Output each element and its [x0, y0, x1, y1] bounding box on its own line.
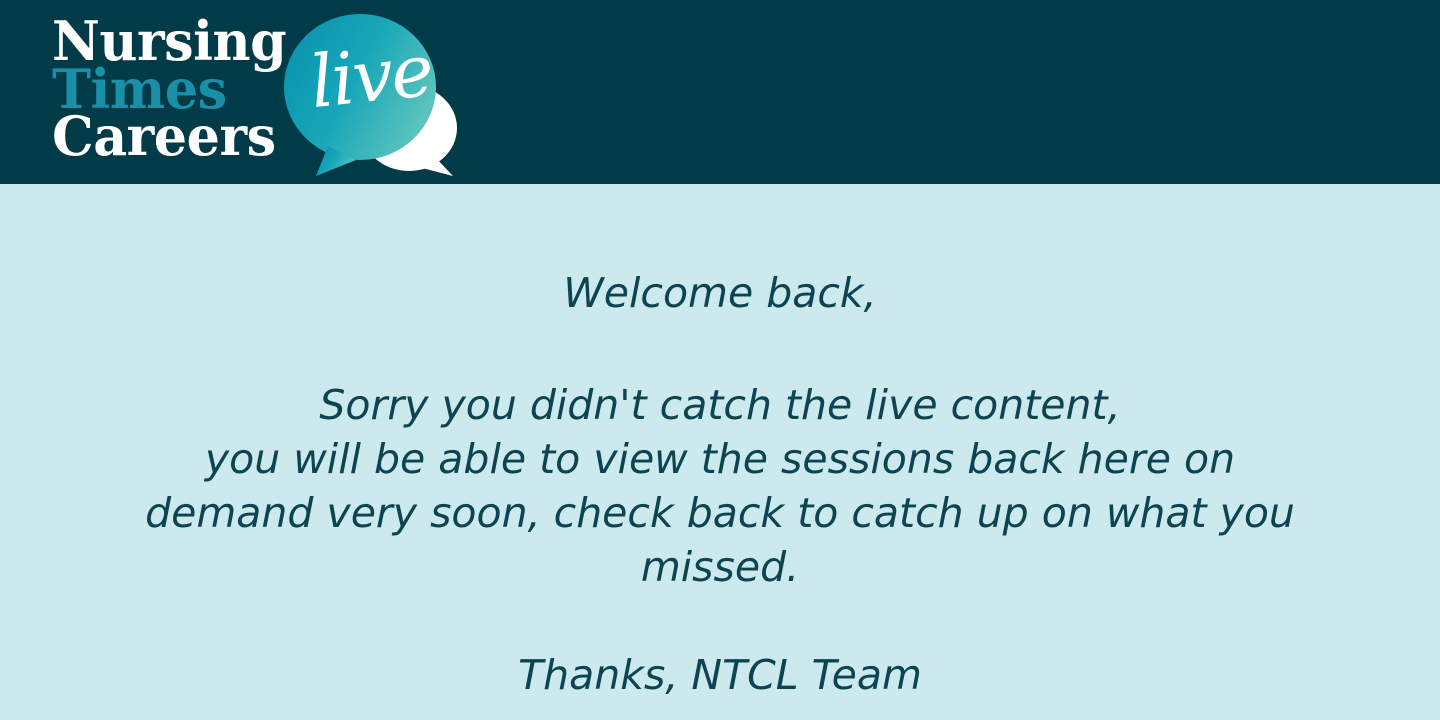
brand-wordmark: Nursing Times Careers [52, 18, 292, 168]
message-body-line-1: Sorry you didn't catch the live content, [80, 378, 1360, 432]
message-signoff: Thanks, NTCL Team [0, 594, 1440, 702]
main-content: Welcome back, Sorry you didn't catch the… [0, 184, 1440, 720]
message-body-line-3: demand very soon, check back to catch up… [80, 486, 1360, 540]
speech-bubble-group: live [282, 10, 457, 182]
site-header: Nursing Times Careers [0, 0, 1440, 184]
message-body-line-4: missed. [80, 540, 1360, 594]
speech-bubble-icon [282, 10, 457, 182]
message-greeting: Welcome back, [0, 184, 1440, 320]
welcome-message: Welcome back, Sorry you didn't catch the… [0, 184, 1440, 702]
wordmark-line-careers: Careers [52, 113, 285, 161]
message-body-line-2: you will be able to view the sessions ba… [80, 432, 1360, 486]
page-root: Nursing Times Careers [0, 0, 1440, 720]
brand-logo[interactable]: Nursing Times Careers [52, 8, 452, 178]
message-body: Sorry you didn't catch the live content,… [0, 320, 1440, 594]
